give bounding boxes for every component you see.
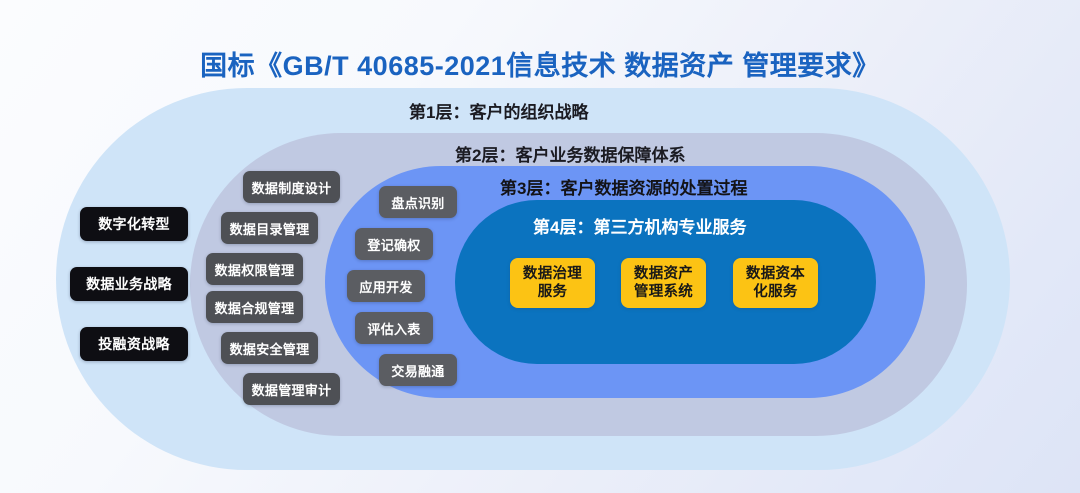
service-chip-line-1: 数据资本 bbox=[746, 265, 805, 283]
governance-chip-data-catalog-management[interactable]: 数据目录管理 bbox=[221, 212, 318, 244]
process-chip-registration-rights-confirmation[interactable]: 登记确权 bbox=[355, 228, 433, 260]
service-chip-line-1: 数据资产 bbox=[634, 265, 693, 283]
service-chip-line-2: 化服务 bbox=[753, 283, 797, 301]
strategy-chip-investment-financing-strategy[interactable]: 投融资战略 bbox=[80, 327, 188, 361]
strategy-chip-data-business-strategy[interactable]: 数据业务战略 bbox=[70, 267, 188, 301]
process-chip-inventory-identification[interactable]: 盘点识别 bbox=[379, 186, 457, 218]
service-chip-data-capitalization-service[interactable]: 数据资本 化服务 bbox=[733, 258, 818, 308]
governance-chip-data-management-audit[interactable]: 数据管理审计 bbox=[243, 373, 340, 405]
service-chip-data-asset-management-system[interactable]: 数据资产 管理系统 bbox=[621, 258, 706, 308]
page-title: 国标《GB/T 40685-2021信息技术 数据资产 管理要求》 bbox=[0, 44, 1080, 83]
service-chip-line-2: 服务 bbox=[538, 283, 568, 301]
process-chip-application-development[interactable]: 应用开发 bbox=[347, 270, 425, 302]
service-chip-data-governance-service[interactable]: 数据治理 服务 bbox=[510, 258, 595, 308]
layer-2-caption: 第2层：客户业务数据保障体系 bbox=[455, 141, 685, 166]
service-chip-line-2: 管理系统 bbox=[634, 283, 693, 301]
governance-chip-data-permission-management[interactable]: 数据权限管理 bbox=[206, 253, 303, 285]
service-chip-line-1: 数据治理 bbox=[523, 265, 582, 283]
layer-3-caption: 第3层：客户数据资源的处置过程 bbox=[500, 174, 747, 199]
process-chip-valuation-capitalization[interactable]: 评估入表 bbox=[355, 312, 433, 344]
layer-1-caption: 第1层：客户的组织战略 bbox=[409, 98, 588, 123]
governance-chip-data-policy-design[interactable]: 数据制度设计 bbox=[243, 171, 340, 203]
governance-chip-data-security-management[interactable]: 数据安全管理 bbox=[221, 332, 318, 364]
strategy-chip-digital-transformation[interactable]: 数字化转型 bbox=[80, 207, 188, 241]
governance-chip-data-compliance-management[interactable]: 数据合规管理 bbox=[206, 291, 303, 323]
layer-4-caption: 第4层：第三方机构专业服务 bbox=[533, 213, 746, 238]
process-chip-trading-circulation[interactable]: 交易融通 bbox=[379, 354, 457, 386]
